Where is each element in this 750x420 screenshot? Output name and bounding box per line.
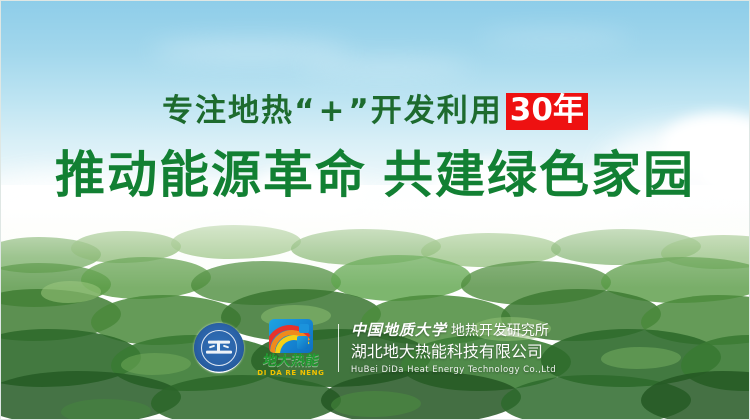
forest-background (1, 185, 749, 419)
org-company-name-en: HuBei DiDa Heat Energy Technology Co.,Lt… (351, 364, 556, 378)
university-seal-icon (194, 323, 244, 373)
org-line-1: 中国地质大学地热开发研究所 (351, 320, 556, 342)
canopy-texture (1, 185, 749, 419)
footer-identity-bar: 地大热能 DI DA RE NENG 中国地质大学地热开发研究所 湖北地大热能科… (1, 319, 749, 378)
main-title: 推动能源革命共建绿色家园 (1, 148, 749, 202)
main-title-part1: 推动能源革命 (55, 146, 367, 204)
subtitle-plus: + (316, 96, 348, 127)
footer-divider (338, 324, 339, 372)
org-university-name: 中国地质大学 (351, 321, 447, 339)
promotional-banner: 专注地热 “ + ” 开发利用 30年 推动能源革命共建绿色家园 (0, 0, 750, 420)
main-title-part2: 共建绿色家园 (383, 146, 695, 204)
subtitle-quote-open: “ (294, 96, 316, 127)
org-company-name-cn: 湖北地大热能科技有限公司 (351, 341, 556, 363)
dida-logo: 地大热能 DI DA RE NENG (252, 319, 330, 378)
headline-block: 专注地热 “ + ” 开发利用 30年 推动能源革命共建绿色家园 (1, 93, 749, 202)
rainbow-arc-icon (269, 319, 313, 353)
subtitle-before: 专注地热 (162, 96, 294, 127)
dida-logo-cn: 地大热能 (262, 354, 320, 369)
dida-logo-en: DI DA RE NENG (257, 369, 324, 378)
subtitle-quote-close: ” (348, 96, 370, 127)
subtitle-after: 开发利用 (371, 96, 503, 127)
subtitle-line: 专注地热 “ + ” 开发利用 30年 (162, 93, 588, 130)
org-institute-name: 地热开发研究所 (451, 323, 549, 339)
seal-glyph-icon (206, 338, 232, 358)
organization-names: 中国地质大学地热开发研究所 湖北地大热能科技有限公司 HuBei DiDa He… (351, 320, 556, 378)
years-badge: 30年 (506, 93, 588, 130)
